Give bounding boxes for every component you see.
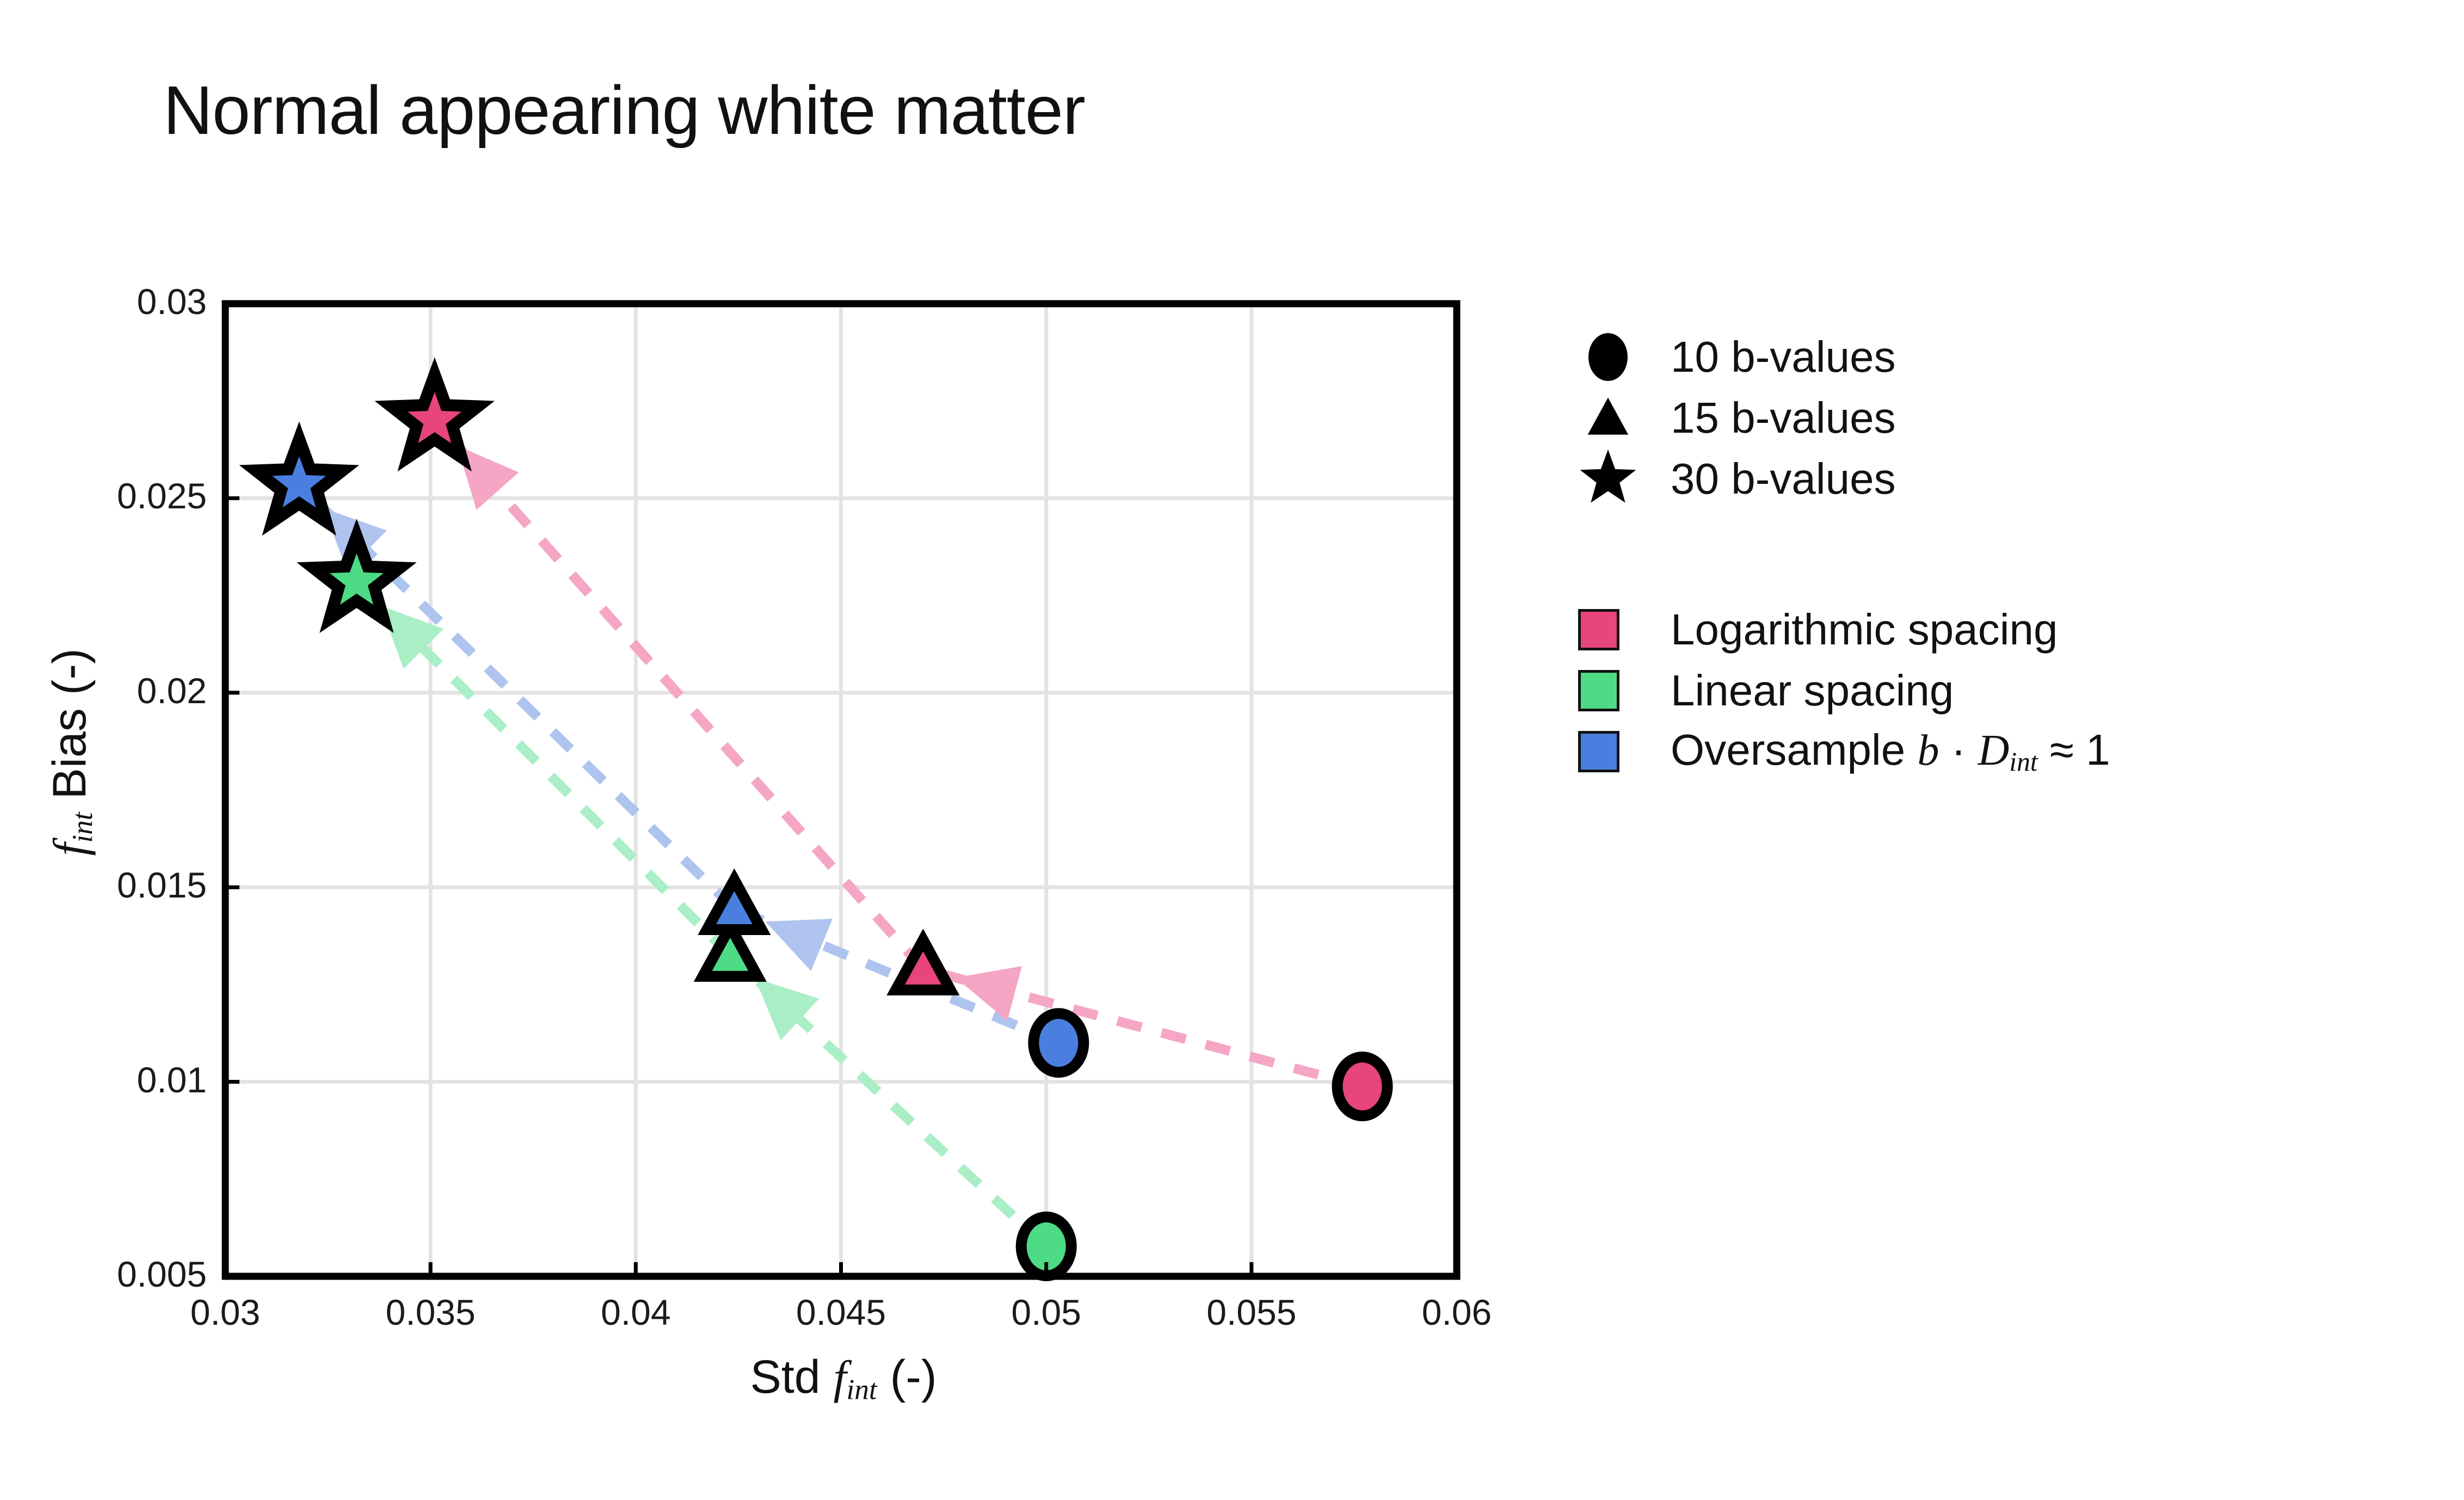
legend-color-group: Logarithmic spacingLinear spacingOversam…	[1567, 599, 2460, 782]
legend-shape-group: 10 b-values15 b-values30 b-values	[1567, 327, 2460, 509]
star-icon	[1580, 450, 1636, 503]
legend-color-row[interactable]: Linear spacing	[1567, 660, 2460, 721]
y-tick-label: 0.005	[33, 1253, 207, 1295]
color-swatch-icon	[1578, 609, 1619, 650]
circle-icon	[1588, 333, 1628, 381]
series-connector-lines	[299, 420, 1363, 1246]
legend-color-swatch-cell	[1567, 670, 1671, 711]
legend-marker-circle-icon	[1567, 327, 1671, 387]
series-arrowhead	[766, 919, 833, 971]
y-axis-title: fint Bias (-)	[42, 507, 99, 997]
color-swatch-icon	[1578, 670, 1619, 711]
data-point-triangle	[896, 940, 950, 990]
x-axis-title-suffix: (-)	[877, 1351, 937, 1403]
data-point-circle	[1338, 1057, 1388, 1116]
legend-shape-row[interactable]: 10 b-values	[1567, 327, 2460, 388]
legend-marker-triangle-icon	[1567, 388, 1671, 448]
legend-color-label: Oversample b · Dint ≈ 1	[1671, 728, 2110, 776]
legend-spacer	[1567, 509, 2460, 599]
x-tick-label: 0.04	[554, 1292, 717, 1333]
x-tick-label: 0.05	[965, 1292, 1128, 1333]
x-tick-label: 0.055	[1170, 1292, 1333, 1333]
x-axis-title: Std fint (-)	[544, 1350, 1143, 1406]
legend-shape-row[interactable]: 15 b-values	[1567, 388, 2460, 448]
legend-color-row[interactable]: Logarithmic spacing	[1567, 599, 2460, 660]
y-axis-title-rest: Bias (-)	[44, 648, 96, 812]
y-tick-label: 0.01	[33, 1059, 207, 1101]
x-tick-label: 0.045	[760, 1292, 923, 1333]
legend-color-row[interactable]: Oversample b · Dint ≈ 1	[1567, 721, 2460, 782]
legend-shape-label: 10 b-values	[1671, 335, 1896, 379]
data-point-circle	[1033, 1013, 1083, 1072]
legend-shape-label: 15 b-values	[1671, 396, 1896, 440]
y-axis-title-symbol: fint	[44, 812, 96, 856]
legend-shape-row[interactable]: 30 b-values	[1567, 448, 2460, 509]
legend-shape-label: 30 b-values	[1671, 457, 1896, 501]
x-tick-label: 0.06	[1375, 1292, 1538, 1333]
data-point-star	[313, 536, 400, 619]
legend-marker-star-icon	[1567, 449, 1671, 509]
x-axis-title-prefix: Std	[750, 1351, 834, 1403]
plot-svg	[0, 0, 1578, 1500]
legend-color-swatch-cell	[1567, 609, 1671, 650]
x-tick-label: 0.035	[349, 1292, 512, 1333]
legend: 10 b-values15 b-values30 b-values Logari…	[1567, 327, 2460, 782]
legend-color-swatch-cell	[1567, 731, 1671, 772]
data-point-star	[391, 374, 478, 457]
plot-area: 0.030.0350.040.0450.050.0550.06 0.0050.0…	[0, 0, 1578, 1500]
triangle-icon	[1588, 398, 1629, 435]
y-tick-label: 0.03	[33, 281, 207, 322]
x-tick-label: 0.03	[144, 1292, 307, 1333]
x-axis-title-symbol: fint	[833, 1351, 877, 1403]
legend-color-label: Linear spacing	[1671, 669, 1954, 712]
legend-color-label: Logarithmic spacing	[1671, 608, 2058, 651]
series-arrowhead	[956, 966, 1022, 1021]
data-markers	[256, 374, 1388, 1276]
color-swatch-icon	[1578, 731, 1619, 772]
